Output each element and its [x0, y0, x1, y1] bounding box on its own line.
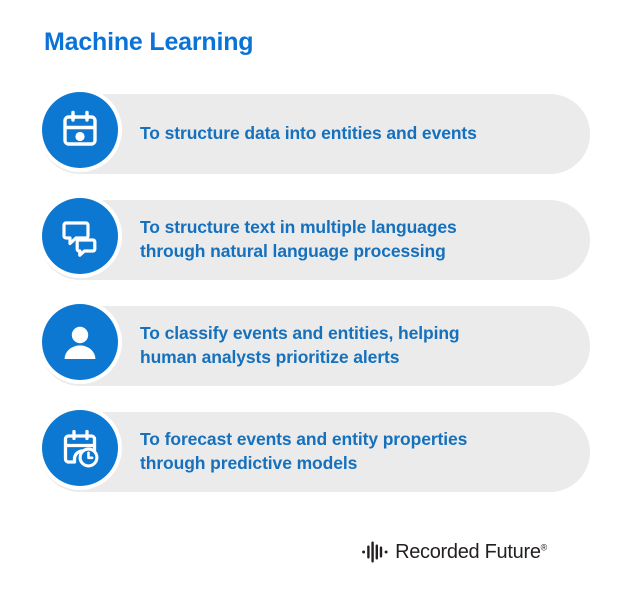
brand-name-text: Recorded Future	[395, 541, 541, 563]
list-item: To structure text in multiple languages …	[0, 198, 633, 282]
calendar-clock-icon	[42, 410, 118, 486]
person-icon	[42, 304, 118, 380]
card-text: To structure text in multiple languages …	[140, 200, 570, 280]
recorded-future-bars-icon	[362, 540, 388, 564]
card-text: To forecast events and entity properties…	[140, 412, 570, 492]
card-text-line-2: through predictive models	[140, 452, 570, 476]
card-text-line-1: To forecast events and entity properties	[140, 428, 570, 452]
card-text-line-2: human analysts prioritize alerts	[140, 346, 570, 370]
brand-name: Recorded Future®	[395, 541, 547, 564]
chat-bubbles-icon	[42, 198, 118, 274]
card-text-line-1: To structure data into entities and even…	[140, 122, 570, 146]
card-list: To structure data into entities and even…	[0, 92, 633, 516]
calendar-event-icon	[42, 92, 118, 168]
list-item: To structure data into entities and even…	[0, 92, 633, 176]
card-text-line-1: To structure text in multiple languages	[140, 216, 570, 240]
card-text: To structure data into entities and even…	[140, 94, 570, 174]
list-item: To forecast events and entity properties…	[0, 410, 633, 494]
infographic-canvas: Machine Learning To structure data into …	[0, 0, 633, 612]
brand-footer: Recorded Future®	[362, 540, 547, 564]
card-text-line-2: through natural language processing	[140, 240, 570, 264]
card-text-line-1: To classify events and entities, helping	[140, 322, 570, 346]
list-item: To classify events and entities, helping…	[0, 304, 633, 388]
registered-trademark-icon: ®	[541, 542, 547, 552]
card-text: To classify events and entities, helping…	[140, 306, 570, 386]
page-title: Machine Learning	[44, 28, 253, 57]
